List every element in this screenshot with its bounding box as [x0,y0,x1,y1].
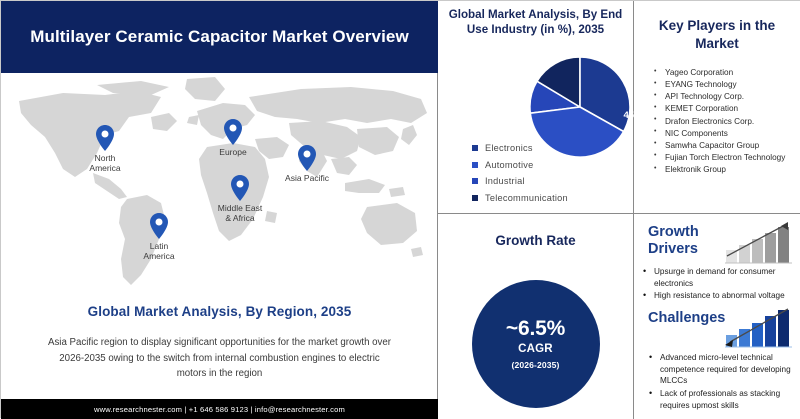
cagr-value: ~6.5% [506,318,565,339]
key-players-title: Key Players in the Market [634,1,800,53]
key-players-list: Yageo Corporation EYANG Technology API T… [652,67,794,176]
list-item: API Technology Corp. [652,91,794,103]
region-panel: Multilayer Ceramic Capacitor Market Over… [1,1,438,419]
list-item: High resistance to abnormal voltage [642,290,794,302]
legend-label: Automotive [485,160,533,170]
growth-rate-title: Growth Rate [438,214,633,250]
end-use-industry-panel: Global Market Analysis, By End Use Indus… [438,1,634,214]
page-title: Multilayer Ceramic Capacitor Market Over… [2,26,437,49]
location-pin-icon [96,125,114,151]
legend-swatch-icon [472,162,478,168]
map-pin-label: Latin America [103,241,215,262]
world-map-svg [1,73,438,301]
key-players-panel: Key Players in the Market Yageo Corporat… [634,1,800,214]
legend-item-industrial: Industrial [472,176,568,186]
pie-chart-title: Global Market Analysis, By End Use Indus… [438,1,633,37]
legend-item-automotive: Automotive [472,160,568,170]
legend-swatch-icon [472,178,478,184]
location-pin-icon [231,175,249,201]
map-pin-label: Middle East & Africa [184,203,296,224]
map-pin-label: Asia Pacific [251,173,363,183]
list-item: Fujian Torch Electron Technology [652,152,794,164]
world-map: North America Latin America Europe [1,73,438,301]
list-item: Samwha Capacitor Group [652,140,794,152]
legend-label: Electronics [485,143,533,153]
cagr-unit: CAGR [518,343,553,355]
footer-contact-text: www.researchnester.com | +1 646 586 9123… [94,405,345,414]
legend-swatch-icon [472,195,478,201]
list-item: Yageo Corporation [652,67,794,79]
legend-item-telecommunication: Telecommunication [472,193,568,203]
list-item: Upsurge in demand for consumer electroni… [642,266,794,289]
hero-banner: Multilayer Ceramic Capacitor Market Over… [1,1,438,73]
list-item: Elektronik Group [652,164,794,176]
growth-drivers-list: Upsurge in demand for consumer electroni… [642,266,794,303]
challenges-bar-chart-icon [722,304,794,350]
region-description: Asia Pacific region to display significa… [45,335,394,382]
location-pin-icon [224,119,242,145]
growth-bar-chart-icon [722,220,794,266]
growth-rate-panel: Growth Rate ~6.5% CAGR (2026-2035) [438,214,634,419]
list-item: NIC Components [652,128,794,140]
cagr-badge: ~6.5% CAGR (2026-2035) [472,280,600,408]
pie-legend: Electronics Automotive Industrial Teleco… [472,143,568,209]
legend-item-electronics: Electronics [472,143,568,153]
legend-swatch-icon [472,145,478,151]
map-pin-label: North America [49,153,161,174]
region-heading: Global Market Analysis, By Region, 2035 [1,304,438,319]
footer-contact-bar: www.researchnester.com | +1 646 586 9123… [1,399,438,419]
list-item: Drafon Electronics Corp. [652,116,794,128]
list-item: KEMET Corporation [652,103,794,115]
infographic-root: Multilayer Ceramic Capacitor Market Over… [0,0,800,418]
cagr-period: (2026-2035) [512,360,560,370]
location-pin-icon [298,145,316,171]
map-pin-label: Europe [177,147,289,157]
challenges-list: Advanced micro-level technical competenc… [648,352,796,412]
list-item: Advanced micro-level technical competenc… [648,352,796,387]
location-pin-icon [150,213,168,239]
list-item: Lack of professionals as stacking requir… [648,388,796,411]
legend-label: Industrial [485,176,525,186]
drivers-challenges-panel: Growth Drivers Upsurge in demand for con… [634,214,800,419]
list-item: EYANG Technology [652,79,794,91]
legend-label: Telecommunication [485,193,568,203]
